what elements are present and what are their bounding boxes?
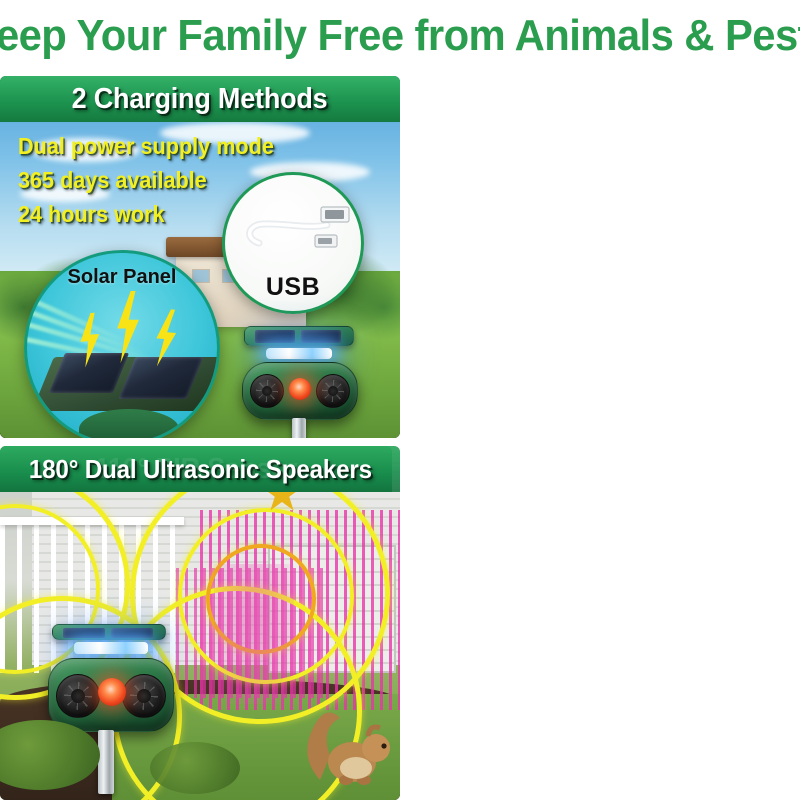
panel-ultrasonic-speakers: 180° Dual Ultrasonic Speakers xyxy=(0,446,400,800)
bullet-dual-power: Dual power supply mode xyxy=(18,132,274,160)
banner-charging-methods: 2 Charging Methods xyxy=(0,76,400,122)
blue-led-strip-tr xyxy=(266,348,332,359)
infographic-root: Keep Your Family Free from Animals & Pes… xyxy=(0,0,800,800)
blue-led-strip-br xyxy=(74,642,148,654)
usb-cable-icon xyxy=(241,199,353,265)
usb-badge: USB xyxy=(222,172,364,314)
repeller-device-tr xyxy=(242,362,358,420)
solar-panel-badge: Solar Panel xyxy=(24,250,220,438)
banner-charging-methods-label: 2 Charging Methods xyxy=(72,85,328,114)
bullet-365-days: 365 days available xyxy=(18,166,274,194)
banner-ultrasonic-speakers: 180° Dual Ultrasonic Speakers xyxy=(0,446,400,492)
solar-panel-badge-label: Solar Panel xyxy=(27,266,217,289)
banner-ultrasonic-speakers-label: 180° Dual Ultrasonic Speakers xyxy=(29,456,372,482)
stake-br xyxy=(98,730,114,794)
stake-tr xyxy=(292,418,306,438)
squirrel-illustration-br xyxy=(290,688,398,794)
page-title: Keep Your Family Free from Animals & Pes… xyxy=(20,0,780,72)
person-silhouette xyxy=(214,564,294,704)
solar-cap-br xyxy=(52,624,166,640)
panel-charging-methods: Dual power supply mode 365 days availabl… xyxy=(0,76,400,438)
bush-br-mid xyxy=(150,742,240,794)
usb-badge-label: USB xyxy=(266,273,320,302)
solar-cap-tr xyxy=(244,326,354,346)
repeller-device-br xyxy=(48,658,174,732)
